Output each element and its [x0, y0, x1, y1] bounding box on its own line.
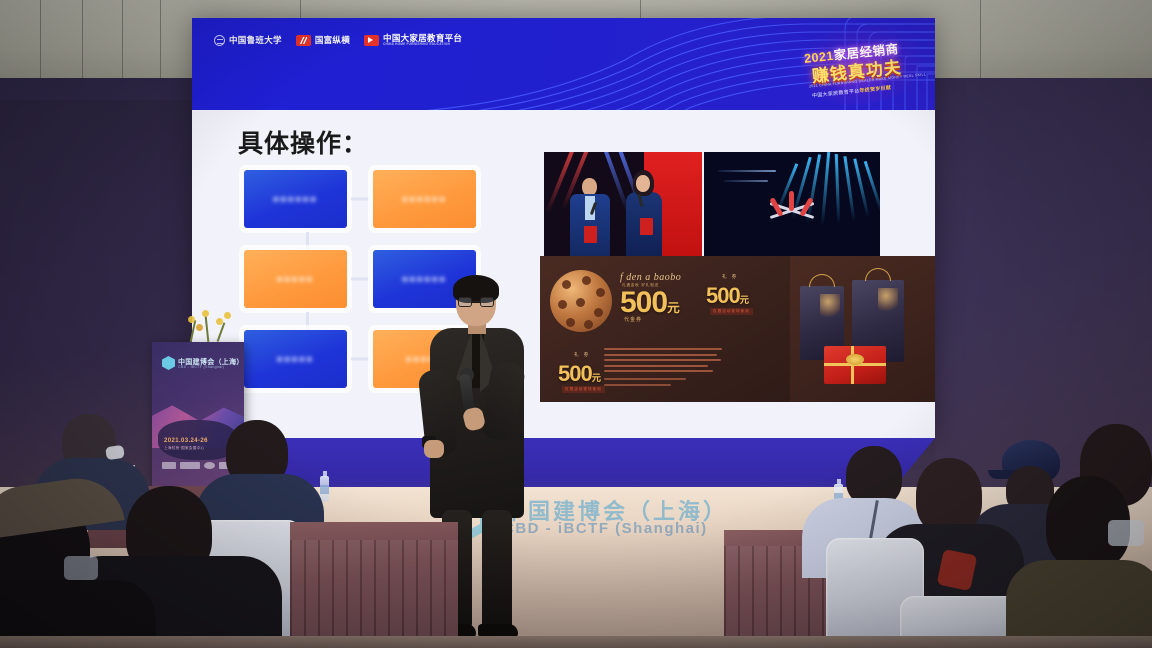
slide-body: 具体操作： ■■■■■■ ■■■■■■ ■■■■■: [192, 110, 935, 438]
voucher-amount-right-value: 500: [706, 283, 740, 308]
face-mask: [1108, 520, 1144, 546]
logo-label: 中国大家居教育平台 CHINA HOME FURNISHING EDUCATIO…: [383, 34, 462, 46]
voucher-caption-main: 代金券: [624, 316, 642, 323]
logo-home-education-platform: 中国大家居教育平台 CHINA HOME FURNISHING EDUCATIO…: [364, 34, 462, 46]
photo-voucher-promo: f den a baobo 礼遇金秋 好礼相送 500元 代金券 礼 券 500…: [540, 256, 790, 402]
flow-box: ■■■■■: [244, 330, 347, 388]
ribbon-bow: [846, 354, 864, 365]
gift-bag-handle: [809, 274, 835, 287]
flow-box: ■■■■■■: [244, 170, 347, 228]
voucher-stamp-right: 仅限活动现场使用: [710, 308, 753, 315]
photo-collage: f den a baobo 礼遇金秋 好礼相送 500元 代金券 礼 券 500…: [540, 152, 880, 402]
host-female-head: [636, 175, 650, 192]
voucher-amount-main: 500元: [620, 286, 679, 320]
voucher-stamp-left: 仅限活动现场使用: [562, 386, 605, 393]
podium-logo-strip: [162, 462, 232, 469]
voucher-tag-right: 礼 券: [722, 274, 738, 280]
speaker-hand-holding-clicker: [424, 440, 444, 458]
podium-place: 上海虹桥·国家会展中心: [164, 446, 204, 451]
water-bottle: [320, 476, 329, 502]
logo-label: 国富纵横: [315, 36, 350, 45]
speaker-glasses-icon: [458, 297, 494, 307]
logo-label-sub: CHINA HOME FURNISHING EDUCATION: [383, 43, 462, 46]
voucher-amount-right-unit: 元: [740, 295, 748, 305]
flow-box: ■■■■■■: [373, 170, 476, 228]
flow-box-label: ■■■■■■: [273, 194, 318, 204]
flow-box: ■■■■■: [244, 250, 347, 308]
voucher-script-title: f den a baobo: [620, 272, 681, 283]
flow-connector-h: [351, 278, 369, 281]
photo-gift-packages: [790, 256, 935, 402]
gift-bag-handle: [865, 268, 891, 281]
flow-connector-h: [351, 198, 369, 201]
logo-guofu-zongheng: 国富纵横: [296, 35, 350, 46]
conference-presentation-photo: 中国鲁班大学 国富纵横 中国大家居教育平台 CHINA HOME FURNISH…: [0, 0, 1152, 648]
audience-head: [846, 446, 902, 506]
audience-table-left: [290, 522, 458, 648]
flow-box-label: ■■■■■: [277, 274, 314, 284]
gift-bag-floral: [878, 288, 898, 314]
voucher-amount-left-unit: 元: [592, 373, 600, 383]
slide-header-band: 中国鲁班大学 国富纵横 中国大家居教育平台 CHINA HOME FURNISH…: [192, 18, 935, 110]
gift-bag-floral: [820, 294, 840, 320]
face-mask: [64, 556, 98, 580]
voucher-terms-list: [604, 348, 722, 376]
voucher-amount-unit: 元: [667, 301, 679, 315]
decorative-sphere: [550, 270, 612, 332]
voucher-tag-left: 礼 券: [574, 352, 590, 358]
flow-row: ■■■■■■ ■■■■■■: [244, 170, 502, 228]
voucher-amount-right: 500元: [706, 283, 748, 309]
projection-screen: 中国鲁班大学 国富纵横 中国大家居教育平台 CHINA HOME FURNISH…: [192, 18, 935, 438]
audience-head: [916, 458, 982, 534]
voucher-amount-value: 500: [620, 286, 667, 319]
flow-connector-h: [351, 358, 369, 361]
podium-hexagon-logo-icon: [162, 356, 175, 370]
guofu-mark-icon: [296, 35, 311, 46]
slide-title: 具体操作：: [238, 124, 368, 160]
photo-stage-hosts: [544, 152, 702, 262]
photo-acrobatic-show: [704, 152, 880, 262]
voucher-amount-left-value: 500: [558, 361, 592, 386]
voucher-amount-left: 500元: [558, 361, 600, 387]
red-gift-box: [824, 346, 886, 384]
front-table-edge: [0, 636, 1152, 648]
voucher-note: [604, 378, 712, 389]
podium-date: 2021.03.24-26: [164, 438, 208, 444]
sponsor-logo-row: 中国鲁班大学 国富纵横 中国大家居教育平台 CHINA HOME FURNISH…: [214, 34, 462, 46]
logo-luban-university: 中国鲁班大学: [214, 35, 282, 46]
promo-badge: 2021家居经销商 赚钱真功夫 2021 CHINA FURNISHING DE…: [793, 18, 929, 110]
flow-box-label: ■■■■■: [277, 354, 314, 364]
audience-shoulders: [1006, 560, 1152, 648]
logo-label: 中国鲁班大学: [229, 36, 282, 45]
play-button-icon: [364, 35, 379, 46]
podium-subtitle: CBD - iBCTF (Shanghai): [178, 365, 224, 369]
flow-box-label: ■■■■■■: [402, 194, 447, 204]
luban-emblem-icon: [214, 35, 225, 46]
podium-flower-arrangement: [172, 310, 250, 342]
